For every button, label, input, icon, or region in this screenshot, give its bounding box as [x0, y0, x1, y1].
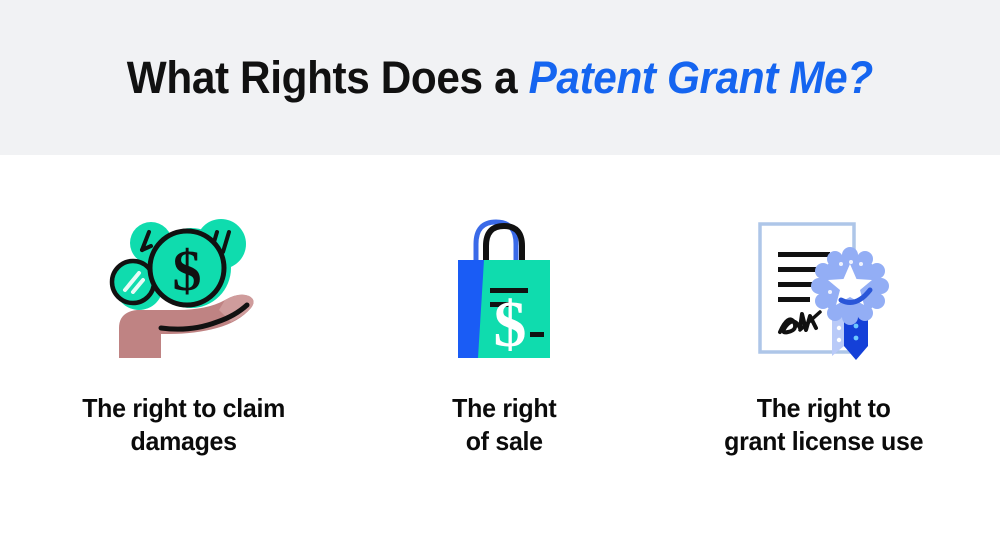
benefit-item-claim-damages: $ The right to claim damages	[34, 155, 334, 457]
dollar-symbol-coin: $	[173, 238, 202, 303]
benefits-row: $ The right to claim damages	[0, 155, 1000, 535]
dollar-symbol-bag: $	[494, 288, 527, 361]
benefit-item-grant-license-use: The right to grant license use	[674, 155, 974, 457]
icon-wrap-claim-damages: $	[99, 210, 269, 370]
page-title-plain: What Rights Does a	[127, 52, 529, 103]
icon-wrap-grant-license-use	[744, 210, 904, 370]
benefit-caption-claim-damages: The right to claim damages	[83, 392, 286, 457]
benefit-item-right-of-sale: $ The right of sale	[354, 155, 654, 457]
benefit-caption-right-of-sale: The right of sale	[452, 392, 556, 457]
coins-in-hand-icon: $	[99, 210, 269, 370]
header-band: What Rights Does a Patent Grant Me?	[0, 0, 1000, 155]
infographic-page: What Rights Does a Patent Grant Me?	[0, 0, 1000, 535]
page-title-accent: Patent Grant Me?	[529, 52, 873, 103]
icon-wrap-right-of-sale: $	[444, 210, 564, 370]
shopping-bag-icon: $	[444, 210, 564, 370]
benefit-caption-grant-license-use: The right to grant license use	[724, 392, 923, 457]
page-title: What Rights Does a Patent Grant Me?	[127, 53, 873, 103]
certificate-award-icon	[744, 210, 904, 370]
